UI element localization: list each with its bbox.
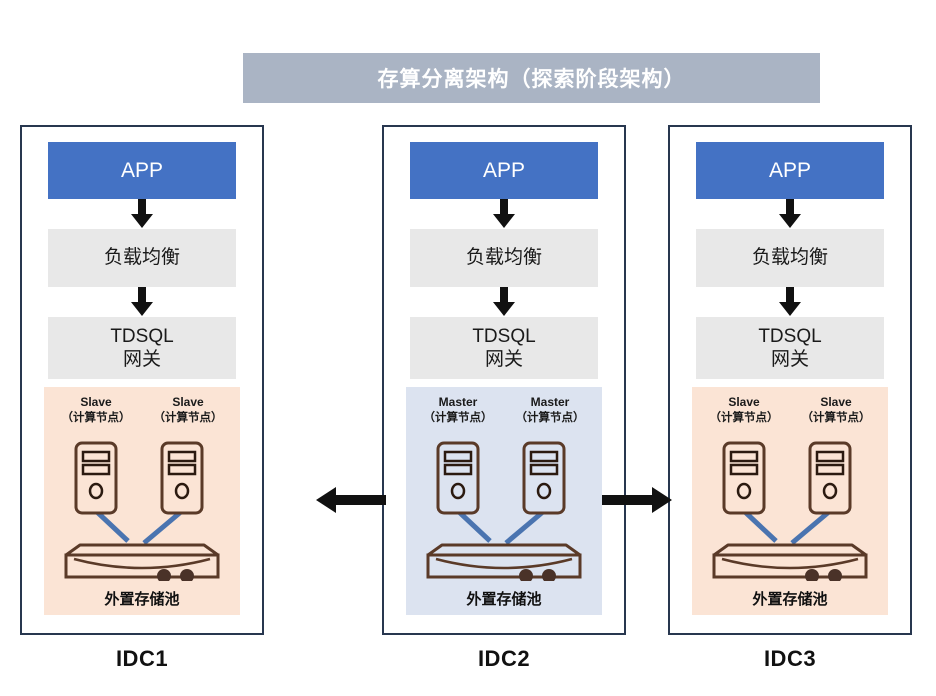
storage-array-icon-1: [66, 545, 218, 581]
storage-pool-graphic-1: [44, 431, 240, 581]
app-box-label-1: APP: [121, 159, 163, 183]
load-balancer-label-2: 负载均衡: [466, 246, 542, 269]
diagram-title-text: 存算分离架构（探索阶段架构）: [378, 63, 686, 93]
app-box-2: APP: [410, 142, 598, 199]
compute-node-sub-2-1: （计算节点）: [424, 411, 493, 426]
storage-array-icon-2: [428, 545, 580, 581]
connector-line-1-2: [144, 511, 182, 543]
compute-node-role-3-2: Slave: [820, 395, 851, 409]
server-tower-icon-1-2: [162, 443, 202, 513]
compute-node-sub-3-2: （计算节点）: [802, 411, 871, 426]
app-box-label-3: APP: [769, 159, 811, 183]
link-arrow-idc2-to-idc1: [316, 480, 386, 520]
tdsql-gateway-label-line2-1: 网关: [123, 348, 161, 371]
server-tower-icon-3-2: [810, 443, 850, 513]
storage-pool-region-3: Slave （计算节点） Slave （计算节点）: [692, 387, 888, 615]
compute-node-sub-1-2: （计算节点）: [154, 411, 223, 426]
server-tower-icon-2-1: [438, 443, 478, 513]
connector-line-2-2: [506, 511, 544, 543]
idc-caption-1: IDC1: [20, 646, 264, 672]
compute-node-role-1-2: Slave: [172, 395, 203, 409]
app-box-3: APP: [696, 142, 884, 199]
storage-pool-graphic-2: [406, 431, 602, 581]
compute-node-label-3-2: Slave （计算节点）: [802, 395, 871, 426]
connector-line-1-1: [96, 511, 128, 541]
server-tower-icon-3-1: [724, 443, 764, 513]
link-arrow-idc2-to-idc3: [602, 480, 672, 520]
compute-node-labels-2: Master （计算节点） Master （计算节点）: [406, 395, 602, 426]
tdsql-gateway-label-line1-1: TDSQL: [110, 325, 173, 348]
app-box-label-2: APP: [483, 159, 525, 183]
tdsql-gateway-box-2: TDSQL 网关: [410, 317, 598, 379]
compute-node-role-2-2: Master: [531, 395, 570, 409]
idc-caption-3: IDC3: [668, 646, 912, 672]
down-arrow-icon-lb-to-gw-3: [775, 287, 805, 317]
idc-panel-2: APP 负载均衡 TDSQL 网关 Master （计算节点） Master: [382, 125, 626, 635]
down-arrow-icon-app-to-lb-3: [775, 199, 805, 229]
idc-panel-1: APP 负载均衡 TDSQL 网关 Slave （计算节点） Slave （计: [20, 125, 264, 635]
idc-panel-3: APP 负载均衡 TDSQL 网关 Slave （计算节点） Slave （计: [668, 125, 912, 635]
compute-node-sub-1-1: （计算节点）: [62, 411, 131, 426]
compute-node-sub-2-2: （计算节点）: [516, 411, 585, 426]
load-balancer-label-3: 负载均衡: [752, 246, 828, 269]
idc-content-3: APP 负载均衡 TDSQL 网关 Slave （计算节点） Slave （计: [668, 125, 912, 635]
compute-node-labels-3: Slave （计算节点） Slave （计算节点）: [692, 395, 888, 426]
storage-pool-region-2: Master （计算节点） Master （计算节点）: [406, 387, 602, 615]
storage-pool-caption-3: 外置存储池: [692, 588, 888, 609]
load-balancer-box-3: 负载均衡: [696, 229, 884, 287]
compute-node-sub-3-1: （计算节点）: [710, 411, 779, 426]
tdsql-gateway-label-line2-3: 网关: [771, 348, 809, 371]
down-arrow-icon-lb-to-gw-1: [127, 287, 157, 317]
down-arrow-icon-lb-to-gw-2: [489, 287, 519, 317]
load-balancer-label-1: 负载均衡: [104, 246, 180, 269]
server-tower-icon-1-1: [76, 443, 116, 513]
storage-pool-caption-2: 外置存储池: [406, 588, 602, 609]
connector-line-3-2: [792, 511, 830, 543]
storage-pool-graphic-3: [692, 431, 888, 581]
load-balancer-box-1: 负载均衡: [48, 229, 236, 287]
diagram-title-banner: 存算分离架构（探索阶段架构）: [243, 53, 820, 103]
server-tower-icon-2-2: [524, 443, 564, 513]
tdsql-gateway-box-3: TDSQL 网关: [696, 317, 884, 379]
compute-node-label-1-2: Slave （计算节点）: [154, 395, 223, 426]
tdsql-gateway-box-1: TDSQL 网关: [48, 317, 236, 379]
load-balancer-box-2: 负载均衡: [410, 229, 598, 287]
app-box-1: APP: [48, 142, 236, 199]
storage-pool-caption-1: 外置存储池: [44, 588, 240, 609]
connector-line-2-1: [458, 511, 490, 541]
idc-content-1: APP 负载均衡 TDSQL 网关 Slave （计算节点） Slave （计: [20, 125, 264, 635]
compute-node-label-1-1: Slave （计算节点）: [62, 395, 131, 426]
down-arrow-icon-app-to-lb-1: [127, 199, 157, 229]
storage-array-icon-3: [714, 545, 866, 581]
compute-node-label-2-2: Master （计算节点）: [516, 395, 585, 426]
storage-pool-region-1: Slave （计算节点） Slave （计算节点）: [44, 387, 240, 615]
connector-line-3-1: [744, 511, 776, 541]
idc-content-2: APP 负载均衡 TDSQL 网关 Master （计算节点） Master: [382, 125, 626, 635]
down-arrow-icon-app-to-lb-2: [489, 199, 519, 229]
compute-node-role-3-1: Slave: [728, 395, 759, 409]
idc-caption-2: IDC2: [382, 646, 626, 672]
compute-node-role-2-1: Master: [439, 395, 478, 409]
tdsql-gateway-label-line2-2: 网关: [485, 348, 523, 371]
compute-node-role-1-1: Slave: [80, 395, 111, 409]
compute-node-label-2-1: Master （计算节点）: [424, 395, 493, 426]
compute-node-label-3-1: Slave （计算节点）: [710, 395, 779, 426]
compute-node-labels-1: Slave （计算节点） Slave （计算节点）: [44, 395, 240, 426]
tdsql-gateway-label-line1-3: TDSQL: [758, 325, 821, 348]
tdsql-gateway-label-line1-2: TDSQL: [472, 325, 535, 348]
